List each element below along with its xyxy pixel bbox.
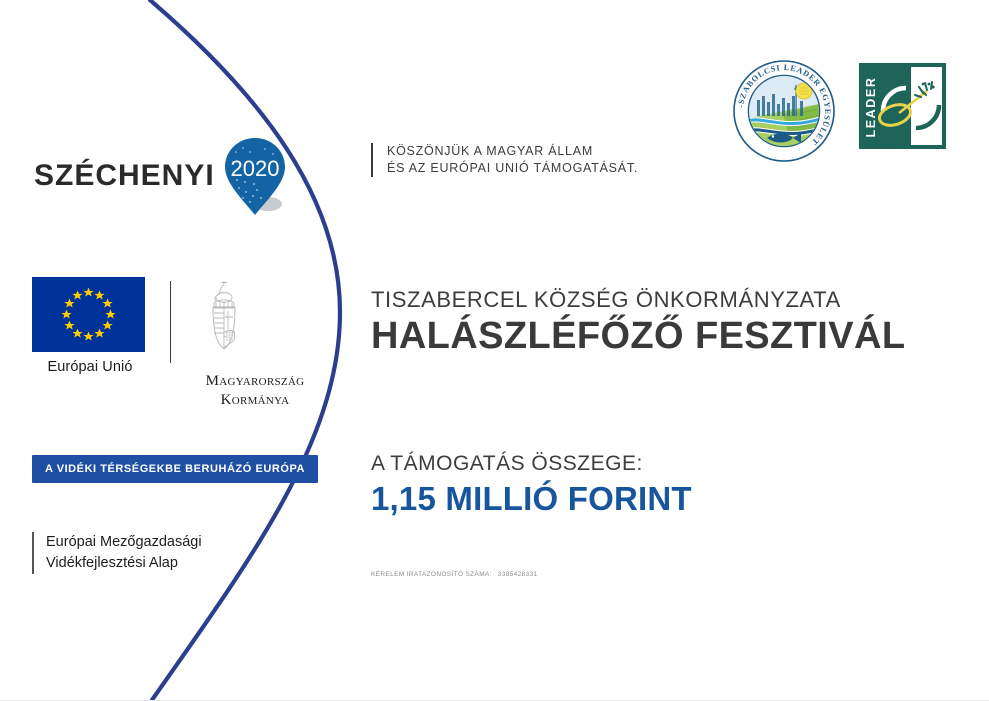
government-caption-line-2: Kormánya: [193, 391, 317, 410]
dossier-label: KÉRELEM IRATAZONOSÍTÓ SZÁMA:: [371, 571, 492, 578]
thanks-line-2: ÉS AZ EURÓPAI UNIÓ TÁMOGATÁSÁT.: [387, 160, 638, 177]
thanks-block: KÖSZÖNJÜK A MAGYAR ÁLLAM ÉS AZ EURÓPAI U…: [371, 143, 638, 177]
emva-fund-block: Európai Mezőgazdasági Vidékfejlesztési A…: [32, 532, 202, 574]
grant-amount: 1,15 MILLIÓ FORINT: [371, 480, 692, 518]
eu-logo-block: Európai Unió: [32, 277, 148, 375]
eu-flag-icon: [32, 277, 145, 352]
szechenyi-wordmark: SZÉCHENYI: [34, 161, 215, 191]
eu-caption: Európai Unió: [32, 359, 148, 375]
szechenyi-2020-logo: SZÉCHENYI 2020: [34, 134, 293, 218]
grant-label: A TÁMOGATÁS ÖSSZEGE:: [371, 452, 643, 476]
logo-divider: [170, 281, 171, 363]
leader-vertical-text: LEADER: [864, 77, 878, 138]
event-title: HALÁSZLÉFŐZŐ FESZTIVÁL: [371, 315, 905, 358]
municipality-name: TISZABERCEL KÖZSÉG ÖNKORMÁNYZATA: [371, 287, 841, 313]
hungary-coat-of-arms-icon: [212, 277, 298, 363]
leader-logo: LEADER: [859, 63, 946, 149]
pin-year-text: 2020: [230, 156, 279, 181]
kozep-szabolcsi-leader-egyesulet-logo: KÖZÉP-SZABOLCSI LEADER EGYESÜLET: [733, 60, 835, 162]
thanks-line-1: KÖSZÖNJÜK A MAGYAR ÁLLAM: [387, 143, 638, 160]
government-caption: Magyarország Kormánya: [193, 372, 317, 410]
dossier-number: 3385428331: [498, 571, 538, 578]
emva-line-1: Európai Mezőgazdasági: [46, 532, 202, 553]
szechenyi-2020-plaque: SZÉCHENYI 2020 KÖSZÖNJÜK A MAG: [0, 0, 989, 701]
government-logo-block: Magyarország Kormánya: [193, 277, 317, 410]
government-caption-line-1: Magyarország: [193, 372, 317, 391]
eu-government-logos: Európai Unió: [32, 277, 317, 410]
rural-europe-banner: A VIDÉKI TÉRSÉGEKBE BERUHÁZÓ EURÓPA: [32, 455, 318, 483]
emva-line-2: Vidékfejlesztési Alap: [46, 553, 202, 574]
dossier-line: KÉRELEM IRATAZONOSÍTÓ SZÁMA:3385428331: [371, 571, 537, 578]
map-pin-icon: 2020: [221, 136, 293, 218]
